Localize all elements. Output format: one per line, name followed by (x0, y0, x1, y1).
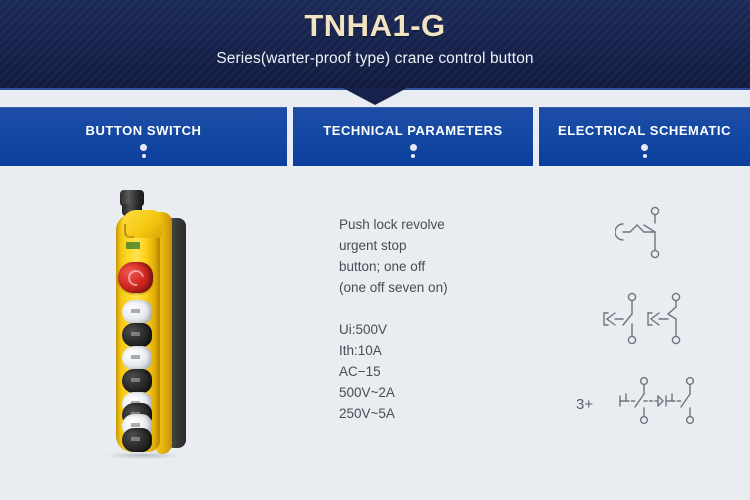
button-arrow-icon (131, 355, 140, 359)
button-arrow-icon (131, 437, 140, 441)
two-dots-icon (140, 144, 147, 158)
description-line: urgent stop (339, 235, 448, 256)
rating-line: Ith:10A (339, 340, 395, 361)
ratings-block: Ui:500V Ith:10A AC−15 500V~2A 250V~5A (339, 319, 395, 424)
pendant-control-station-image (112, 190, 188, 455)
rating-line: Ui:500V (339, 319, 395, 340)
tab-label: ELECTRICAL SCHEMATIC (558, 123, 731, 138)
description-line: button; one off (339, 256, 448, 277)
two-dots-icon (641, 144, 648, 158)
schematic-prefix-label: 3+ (576, 396, 593, 414)
page-subtitle: Series(warter-proof type) crane control … (216, 48, 533, 70)
description-block: Push lock revolve urgent stop button; on… (339, 214, 448, 298)
dot-large (140, 144, 147, 151)
dot-small (411, 154, 415, 158)
rating-line: 500V~2A (339, 382, 395, 403)
dot-large (410, 144, 417, 151)
rating-line: 250V~5A (339, 403, 395, 424)
tab-label: BUTTON SWITCH (86, 123, 202, 138)
emergency-stop-button-icon (118, 262, 153, 293)
push-lock-emergency-stop-contact-symbol (615, 206, 671, 265)
page-header: TNHA1-G Series(warter-proof type) crane … (0, 0, 750, 88)
specifications-panel: Push lock revolve urgent stop button; on… (290, 166, 530, 500)
button-arrow-icon (131, 378, 140, 382)
control-button (122, 346, 152, 370)
two-dots-icon (410, 144, 417, 158)
dot-small (643, 154, 647, 158)
product-image-panel (0, 166, 290, 500)
rating-line: AC−15 (339, 361, 395, 382)
tab-electrical-schematic[interactable]: ELECTRICAL SCHEMATIC (539, 107, 750, 166)
product-label (126, 242, 140, 249)
header-text-group: TNHA1-G Series(warter-proof type) crane … (0, 0, 750, 88)
button-arrow-icon (131, 423, 140, 427)
tab-technical-parameters[interactable]: TECHNICAL PARAMETERS (293, 107, 533, 166)
tab-label: TECHNICAL PARAMETERS (323, 123, 503, 138)
dot-large (641, 144, 648, 151)
enclosure-mark (124, 224, 134, 238)
button-arrow-icon (131, 332, 140, 336)
control-button (122, 369, 152, 393)
no-nc-contact-pair-symbol (602, 292, 690, 351)
triangle-down-icon (343, 88, 407, 105)
schematic-panel: 3+ (530, 166, 750, 500)
control-button (122, 300, 152, 324)
description-line: (one off seven on) (339, 277, 448, 298)
enclosure-edge-highlight (238, 338, 241, 386)
description-line: Push lock revolve (339, 214, 448, 235)
tab-button-switch[interactable]: BUTTON SWITCH (0, 107, 287, 166)
dot-small (142, 154, 146, 158)
button-arrow-icon (131, 309, 140, 313)
page-title: TNHA1-G (304, 7, 445, 45)
product-info-page: TNHA1-G Series(warter-proof type) crane … (0, 0, 750, 500)
content-area: Push lock revolve urgent stop button; on… (0, 166, 750, 500)
estop-rotate-arrow-icon (125, 267, 147, 289)
control-button (122, 323, 152, 347)
control-button (122, 428, 152, 452)
section-tabs: BUTTON SWITCH TECHNICAL PARAMETERS ELECT… (0, 107, 750, 166)
